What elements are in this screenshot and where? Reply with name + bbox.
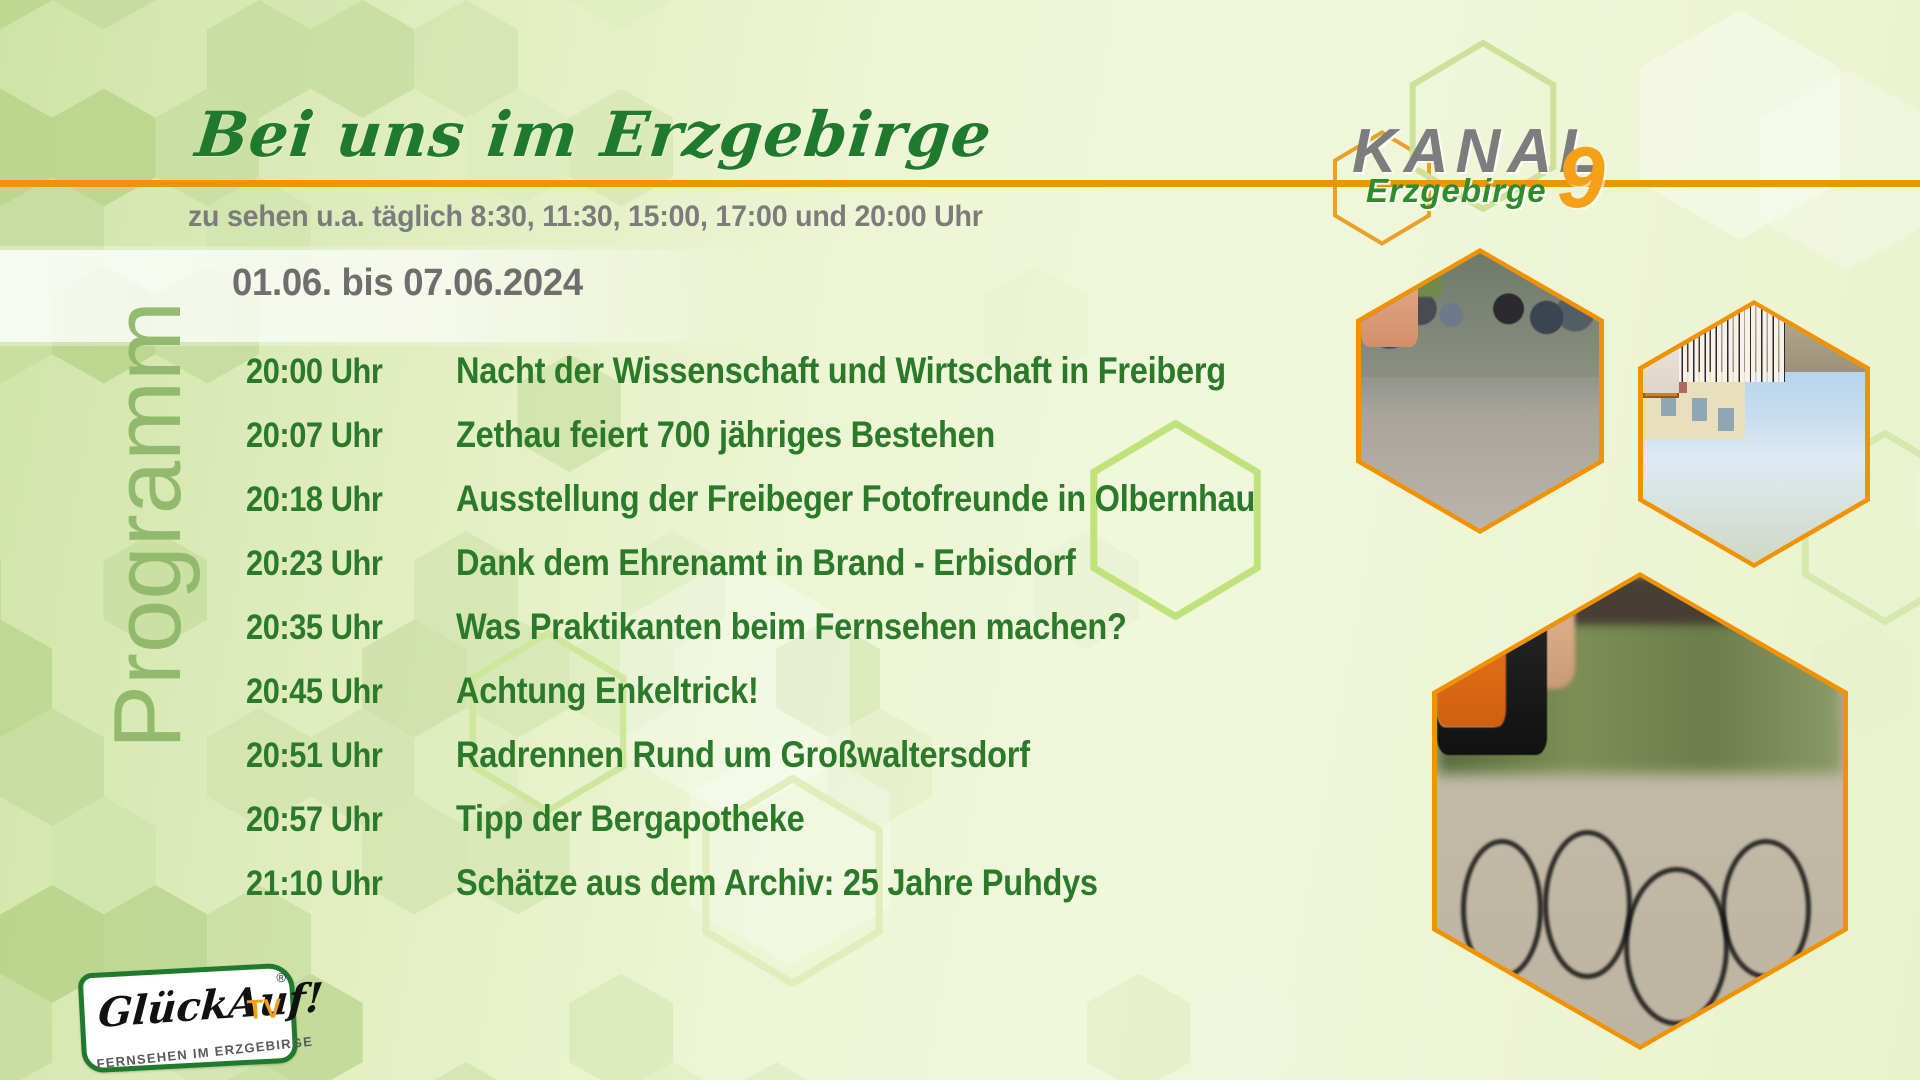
schedule-row: 20:51 UhrRadrennen Rund um Großwaltersdo… (246, 734, 1326, 798)
schedule-time: 21:10 Uhr (246, 864, 431, 904)
schedule-time: 20:35 Uhr (246, 608, 431, 648)
schedule-title: Tipp der Bergapotheke (456, 798, 804, 840)
schedule-title: Schätze aus dem Archiv: 25 Jahre Puhdys (456, 862, 1098, 904)
schedule-row: 20:57 UhrTipp der Bergapotheke (246, 798, 1326, 862)
show-title: Bei uns im Erzgebirge (192, 98, 995, 171)
schedule-time: 20:00 Uhr (246, 352, 431, 392)
airtimes-text: zu sehen u.a. täglich 8:30, 11:30, 15:00… (188, 200, 983, 234)
kanal9-logo: KANAL Erzgebirge 9 (1352, 120, 1622, 230)
schedule-row: 20:23 UhrDank dem Ehrenamt in Brand - Er… (246, 542, 1326, 606)
schedule-row: 21:10 UhrSchätze aus dem Archiv: 25 Jahr… (246, 862, 1326, 926)
registered-mark: ® (276, 970, 286, 985)
kanal-number-9: 9 (1557, 138, 1605, 220)
schedule-time: 20:18 Uhr (246, 480, 431, 520)
schedule-time: 20:57 Uhr (246, 800, 431, 840)
schedule-row: 20:45 UhrAchtung Enkeltrick! (246, 670, 1326, 734)
schedule-title: Zethau feiert 700 jähriges Bestehen (456, 414, 995, 456)
schedule-title: Achtung Enkeltrick! (456, 670, 759, 712)
schedule-time: 20:23 Uhr (246, 544, 431, 584)
schedule-time: 20:51 Uhr (246, 736, 431, 776)
schedule-list: 20:00 UhrNacht der Wissenschaft und Wirt… (246, 350, 1326, 926)
kanal-region-label: Erzgebirge (1366, 172, 1547, 210)
schedule-row: 20:07 UhrZethau feiert 700 jähriges Best… (246, 414, 1326, 478)
schedule-row: 20:00 UhrNacht der Wissenschaft und Wirt… (246, 350, 1326, 414)
schedule-time: 20:45 Uhr (246, 672, 431, 712)
schedule-title: Was Praktikanten beim Fernsehen machen? (456, 606, 1127, 648)
schedule-title: Radrennen Rund um Großwaltersdorf (456, 734, 1030, 776)
schedule-title: Nacht der Wissenschaft und Wirtschaft in… (456, 350, 1226, 392)
glueckauf-tv-logo: GlückAuf! TV ® FERNSEHEN IM ERZGEBIRGE (80, 968, 296, 1068)
schedule-title: Dank dem Ehrenamt in Brand - Erbisdorf (456, 542, 1076, 584)
schedule-row: 20:35 UhrWas Praktikanten beim Fernsehen… (246, 606, 1326, 670)
program-slide: Bei uns im Erzgebirge zu sehen u.a. tägl… (0, 0, 1920, 1080)
orange-divider-rule (0, 180, 1920, 187)
schedule-time: 20:07 Uhr (246, 416, 431, 456)
schedule-title: Ausstellung der Freibeger Fotofreunde in… (456, 478, 1255, 520)
tv-label: TV (247, 993, 283, 1026)
date-range-text: 01.06. bis 07.06.2024 (232, 262, 583, 305)
programm-vertical-label: Programm (93, 205, 203, 845)
schedule-row: 20:18 UhrAusstellung der Freibeger Fotof… (246, 478, 1326, 542)
